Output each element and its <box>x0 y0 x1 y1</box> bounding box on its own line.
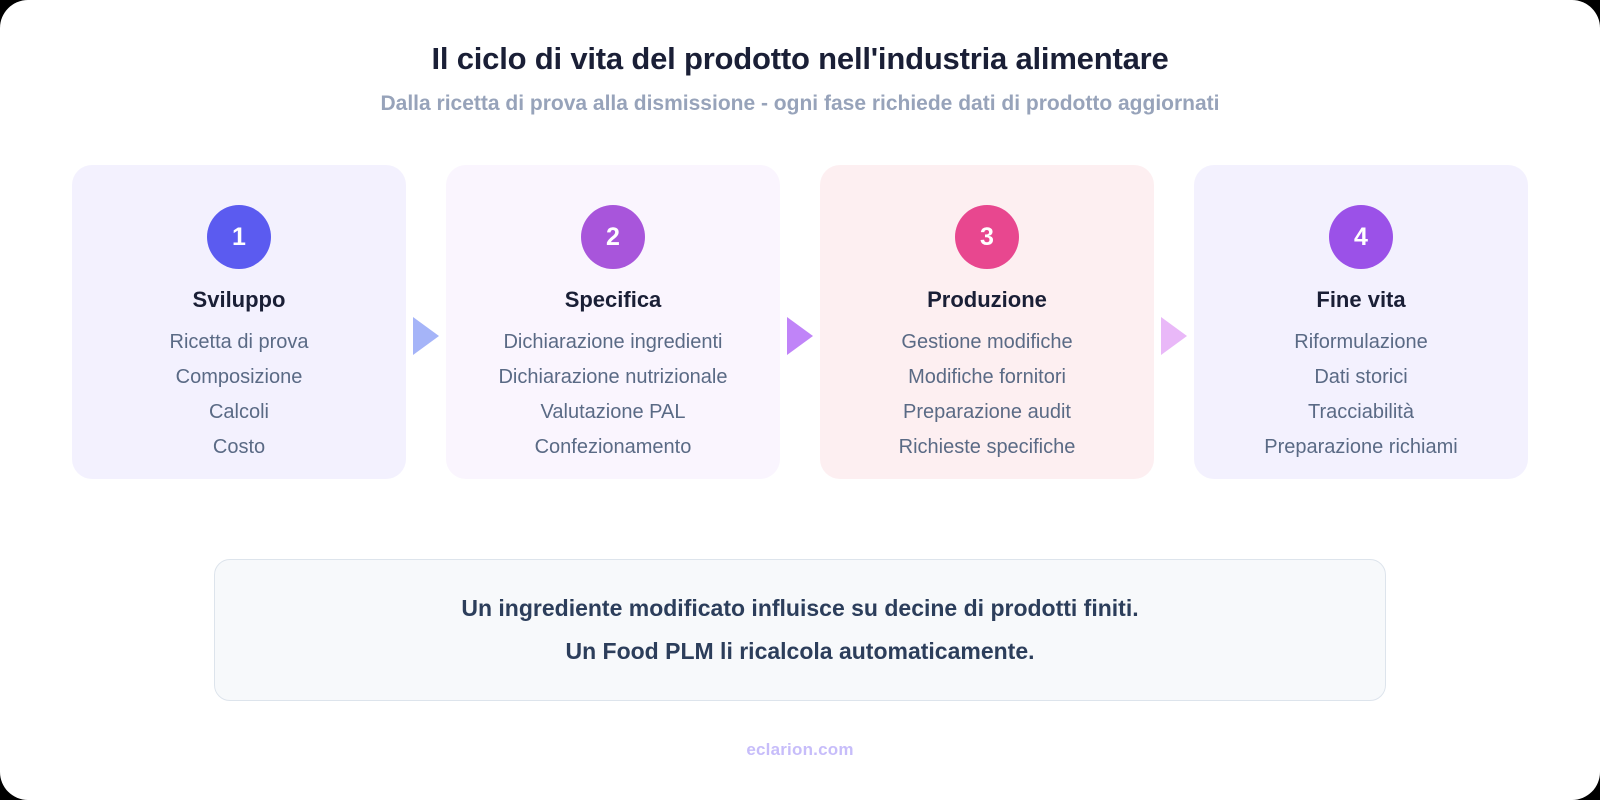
stage-badge-3: 3 <box>955 205 1019 269</box>
list-item: Dati storici <box>1314 362 1407 393</box>
stage-badge-4: 4 <box>1329 205 1393 269</box>
stage-card-4: 4 Fine vita Riformulazione Dati storici … <box>1194 165 1528 479</box>
stage-items-1: Ricetta di prova Composizione Calcoli Co… <box>170 327 309 463</box>
stage-badge-2: 2 <box>581 205 645 269</box>
list-item: Riformulazione <box>1294 327 1427 358</box>
list-item: Preparazione richiami <box>1264 432 1457 463</box>
stage-number-3: 3 <box>980 225 994 250</box>
stage-items-2: Dichiarazione ingredienti Dichiarazione … <box>498 327 727 463</box>
list-item: Tracciabilità <box>1308 397 1414 428</box>
header: Il ciclo di vita del prodotto nell'indus… <box>0 40 1600 116</box>
stage-title-4: Fine vita <box>1316 287 1405 313</box>
infographic-page: Il ciclo di vita del prodotto nell'indus… <box>0 0 1600 800</box>
list-item: Costo <box>213 432 265 463</box>
stage-number-1: 1 <box>232 225 246 250</box>
connector-gap-3 <box>1154 165 1194 479</box>
arrow-connector-1 <box>413 317 439 355</box>
stage-number-4: 4 <box>1354 225 1368 250</box>
stage-items-3: Gestione modifiche Modifiche fornitori P… <box>899 327 1076 463</box>
list-item: Calcoli <box>209 397 269 428</box>
stage-card-1: 1 Sviluppo Ricetta di prova Composizione… <box>72 165 406 479</box>
callout-line-2: Un Food PLM li ricalcola automaticamente… <box>565 638 1034 666</box>
list-item: Composizione <box>176 362 303 393</box>
list-item: Dichiarazione nutrizionale <box>498 362 727 393</box>
list-item: Ricetta di prova <box>170 327 309 358</box>
lifecycle-stages: 1 Sviluppo Ricetta di prova Composizione… <box>74 165 1526 479</box>
source-label: eclarion.com <box>746 740 853 760</box>
connector-gap-2 <box>780 165 820 479</box>
list-item: Richieste specifiche <box>899 432 1076 463</box>
list-item: Preparazione audit <box>903 397 1071 428</box>
page-subtitle: Dalla ricetta di prova alla dismissione … <box>0 91 1600 116</box>
stage-items-4: Riformulazione Dati storici Tracciabilit… <box>1264 327 1457 463</box>
list-item: Dichiarazione ingredienti <box>503 327 722 358</box>
list-item: Confezionamento <box>535 432 692 463</box>
stage-title-1: Sviluppo <box>193 287 286 313</box>
arrow-connector-2 <box>787 317 813 355</box>
stage-title-3: Produzione <box>927 287 1047 313</box>
connector-gap-1 <box>406 165 446 479</box>
stage-card-2: 2 Specifica Dichiarazione ingredienti Di… <box>446 165 780 479</box>
stage-number-2: 2 <box>606 225 620 250</box>
page-title: Il ciclo di vita del prodotto nell'indus… <box>0 40 1600 77</box>
stage-title-2: Specifica <box>565 287 662 313</box>
stage-badge-1: 1 <box>207 205 271 269</box>
list-item: Valutazione PAL <box>541 397 686 428</box>
arrow-connector-3 <box>1161 317 1187 355</box>
list-item: Gestione modifiche <box>901 327 1072 358</box>
list-item: Modifiche fornitori <box>908 362 1066 393</box>
stage-card-3: 3 Produzione Gestione modifiche Modifich… <box>820 165 1154 479</box>
callout-line-1: Un ingrediente modificato influisce su d… <box>461 595 1138 623</box>
callout-box: Un ingrediente modificato influisce su d… <box>214 559 1386 701</box>
